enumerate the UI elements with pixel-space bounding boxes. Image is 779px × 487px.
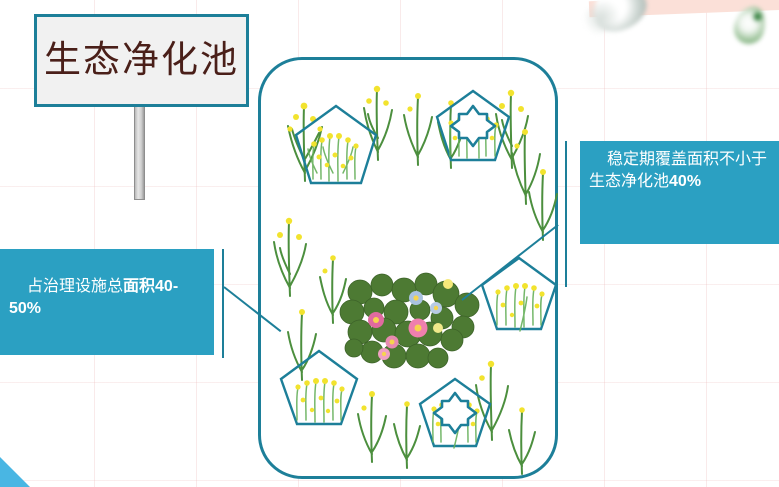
callout-left-text: 占治理设施总面积40-50% xyxy=(0,249,214,328)
corner-triangle-decoration xyxy=(0,457,30,487)
right-callout-connector-line xyxy=(565,141,567,287)
slide-canvas: 生态净化池 xyxy=(0,0,779,487)
left-callout-connector-line xyxy=(222,249,224,358)
pentagon-cross-icon xyxy=(434,88,512,164)
reed-plant-icon xyxy=(503,398,541,474)
callout-right-text: 稳定期覆盖面积不小于生态净化池40% xyxy=(580,141,779,201)
page-title: 生态净化池 xyxy=(44,42,239,79)
sign-post xyxy=(134,105,145,200)
reed-plant-icon xyxy=(268,210,312,296)
pentagon-plant-icon xyxy=(479,255,559,333)
callout-right[interactable]: 稳定期覆盖面积不小于生态净化池40% xyxy=(580,141,779,244)
reed-plant-icon xyxy=(523,160,563,240)
pentagon-plant-icon xyxy=(293,103,379,187)
water-lily-icon xyxy=(330,272,490,377)
sign-board: 生态净化池 xyxy=(34,14,249,107)
water-droplet-icon xyxy=(585,0,654,40)
pentagon-cross-icon xyxy=(417,376,493,450)
callout-left[interactable]: 占治理设施总面积40-50% xyxy=(0,249,214,355)
